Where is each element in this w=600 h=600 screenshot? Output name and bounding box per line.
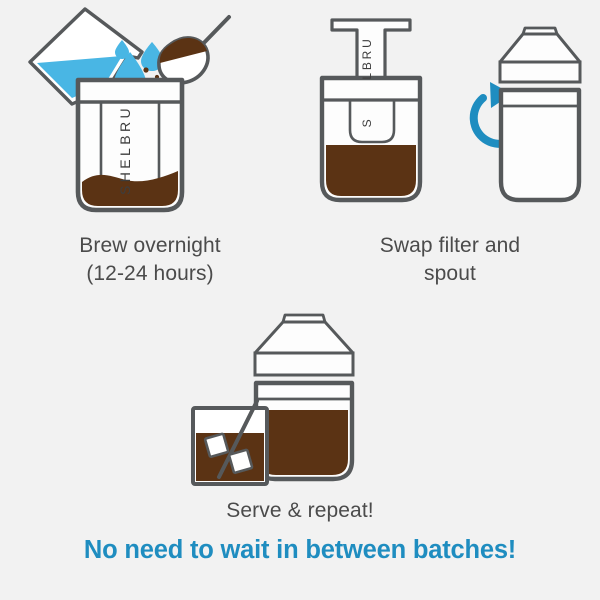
filter-brand-label-bottom: S — [360, 117, 374, 128]
steps-row-top: SHELBRU Brew overnight (12-24 hours) — [0, 0, 600, 310]
coffee-scoop-icon — [159, 17, 229, 83]
ice-cube-icon — [205, 434, 229, 458]
serve-bottle-and-glass-icon — [175, 305, 425, 495]
step-serve: Serve & repeat! — [0, 305, 600, 525]
spout-bottle-filled-icon — [255, 315, 353, 479]
filter-jar-icon: LBRU S — [322, 20, 420, 200]
step-brew-caption: Brew overnight (12-24 hours) — [79, 232, 220, 288]
spout-jar-icon — [500, 28, 580, 200]
step-swap-caption: Swap filter and spout — [380, 232, 520, 288]
step-swap: LBRU S — [300, 0, 600, 310]
jar-with-water-and-coffee-scoop-icon: SHELBRU — [10, 0, 290, 230]
filter-brand-label-top: LBRU — [360, 36, 374, 79]
jar-brand-label: SHELBRU — [117, 105, 133, 195]
ice-cube-icon — [229, 450, 253, 474]
iced-coffee-glass-icon — [193, 401, 267, 484]
infographic-page: SHELBRU Brew overnight (12-24 hours) — [0, 0, 600, 600]
step-serve-caption: Serve & repeat! — [226, 497, 373, 525]
filter-swap-icon: LBRU S — [310, 0, 590, 230]
step-brew: SHELBRU Brew overnight (12-24 hours) — [0, 0, 300, 310]
brew-jar-icon: SHELBRU — [78, 80, 182, 210]
bottom-banner: No need to wait in between batches! — [0, 536, 600, 565]
